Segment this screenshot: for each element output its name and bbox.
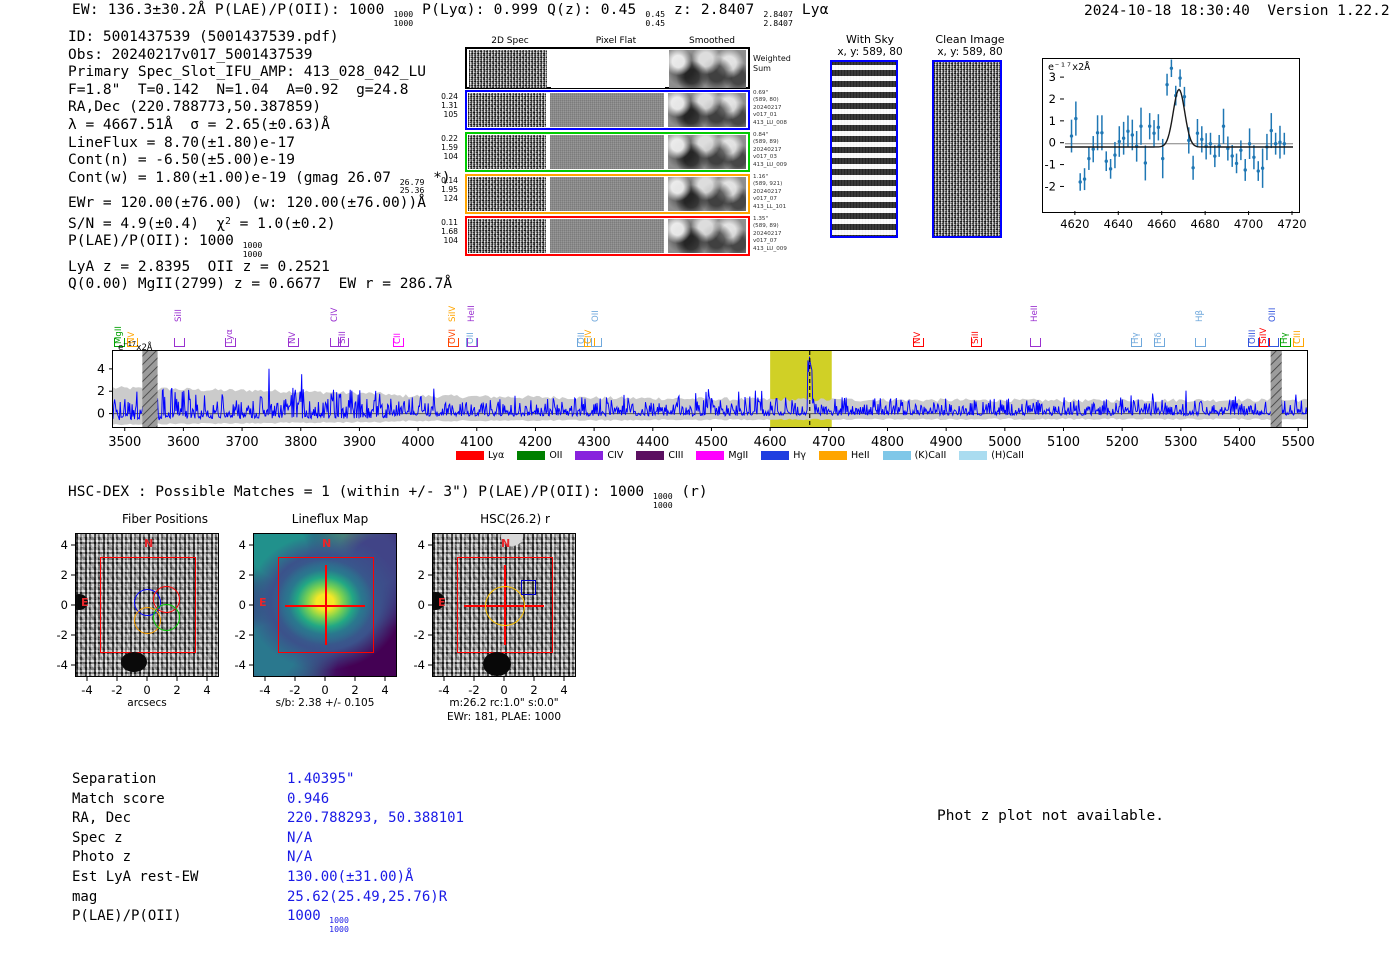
gmag-fraction: 26.7925.36 bbox=[400, 178, 425, 195]
compass-n-label: N bbox=[144, 537, 153, 550]
emission-line-label-NV: NV bbox=[288, 292, 298, 344]
legend-swatch-HCaII bbox=[959, 451, 987, 460]
svg-text:3900: 3900 bbox=[343, 435, 376, 450]
fiber-pixelflat-image bbox=[550, 219, 664, 253]
svg-text:0: 0 bbox=[143, 683, 150, 697]
match-row-value: 1000 bbox=[287, 908, 329, 924]
svg-text:4700: 4700 bbox=[1234, 217, 1263, 231]
lineflux-map-image[interactable]: N E bbox=[253, 533, 397, 677]
emission-line-bracket bbox=[1131, 338, 1142, 347]
compass-e-label: E bbox=[259, 596, 267, 609]
clean-image bbox=[932, 60, 1002, 238]
match-row-key: Separation bbox=[72, 770, 287, 790]
svg-text:2: 2 bbox=[418, 568, 425, 582]
weighted-sum-smoothed-image bbox=[669, 50, 746, 88]
legend-swatch-CIV bbox=[575, 451, 603, 460]
fiber-smoothed-image bbox=[668, 177, 746, 211]
svg-text:-4: -4 bbox=[259, 683, 270, 697]
svg-text:0: 0 bbox=[61, 598, 68, 612]
emission-line-bracket bbox=[1195, 338, 1206, 347]
svg-text:4: 4 bbox=[61, 538, 68, 552]
cutout-xlabel-sb: s/b: 2.38 +/- 0.105 bbox=[243, 697, 407, 709]
emission-line-label-SiII: SiII bbox=[338, 292, 348, 344]
spec2d-col-title-2dspec: 2D Spec bbox=[470, 36, 550, 46]
legend-label-HCaII: (H)CaII bbox=[991, 450, 1024, 461]
svg-text:2: 2 bbox=[173, 683, 180, 697]
info-radec: RA,Dec (220.788773,50.387859) bbox=[68, 99, 452, 117]
svg-text:4660: 4660 bbox=[1147, 217, 1176, 231]
match-row-key: Match score bbox=[72, 790, 287, 810]
crosshair-gap bbox=[314, 594, 338, 618]
fiber-circle-green bbox=[153, 604, 180, 631]
emission-line-bracket bbox=[174, 338, 185, 347]
compass-e-label: E bbox=[438, 596, 446, 609]
match-row-value: N/A bbox=[287, 830, 312, 846]
emission-line-bracket bbox=[971, 338, 982, 347]
emission-line-bracket bbox=[1030, 338, 1041, 347]
emission-line-label-CII: CII bbox=[393, 292, 403, 344]
blob-dark bbox=[121, 652, 147, 672]
match-row-value: N/A bbox=[287, 849, 312, 865]
table-row: Spec zN/A bbox=[72, 829, 464, 849]
table-row: mag25.62(25.49,25.76)R bbox=[72, 888, 464, 908]
svg-text:-2: -2 bbox=[57, 628, 68, 642]
svg-text:3600: 3600 bbox=[167, 435, 200, 450]
info-id: ID: 5001437539 (5001437539.pdf) bbox=[68, 29, 452, 47]
emission-line-label-SiII: SiII bbox=[971, 292, 981, 344]
svg-text:-2: -2 bbox=[235, 628, 246, 642]
svg-text:5100: 5100 bbox=[1047, 435, 1080, 450]
info-ewr: EWr = 120.00(±76.00) (w: 120.00(±76.00))… bbox=[68, 195, 452, 213]
full-spectrum-unit-label: e−17x2Å bbox=[118, 340, 152, 353]
legend-label-CIII: CIII bbox=[668, 450, 683, 461]
cutout-title-hsc-r: HSC(26.2) r bbox=[420, 512, 610, 526]
fiber-smoothed-image bbox=[668, 219, 746, 253]
table-row: P(LAE)/P(OII)1000 10001000 bbox=[72, 907, 464, 933]
emission-line-label-OVI: OVI bbox=[448, 292, 458, 344]
header-qz-fraction: 0.450.45 bbox=[645, 10, 665, 27]
spec2d-fiber-rows: 0.241.31105 0.69"(589, 80)20240217v017_0… bbox=[425, 90, 765, 256]
svg-text:3500: 3500 bbox=[108, 435, 141, 450]
fiber-2dspec-image bbox=[468, 135, 546, 169]
zoom-spectrum-plot[interactable]: e⁻¹⁷x2Å bbox=[1042, 58, 1300, 213]
zoom-spectrum-svg bbox=[1043, 59, 1299, 212]
weighted-sum-pixelflat-image bbox=[551, 50, 665, 88]
emission-line-label-CIII: CIII bbox=[1293, 292, 1303, 344]
emission-line-labels: MgIINVSiIILyαNVCIVSiIICIISiIVOVIOIIHeIIO… bbox=[0, 270, 1400, 352]
svg-text:-4: -4 bbox=[438, 683, 449, 697]
match-properties-table: Separation1.40395"Match score0.946RA, De… bbox=[72, 770, 464, 933]
svg-text:-4: -4 bbox=[81, 683, 92, 697]
match-row-value: 1.40395" bbox=[287, 771, 354, 787]
svg-text:-2: -2 bbox=[289, 683, 300, 697]
legend-swatch-Ly bbox=[456, 451, 484, 460]
spec2d-weighted-sum-row bbox=[465, 47, 750, 89]
svg-text:4620: 4620 bbox=[1060, 217, 1089, 231]
svg-text:-2: -2 bbox=[468, 683, 479, 697]
table-row[interactable] bbox=[465, 174, 750, 214]
with-sky-image bbox=[830, 60, 898, 238]
hscdex-plae-fraction: 10001000 bbox=[653, 492, 673, 509]
full-spectrum-svg bbox=[113, 351, 1307, 427]
hscdex-header: HSC-DEX : Possible Matches = 1 (within +… bbox=[68, 484, 708, 509]
match-row-value: 130.00(±31.00)Å bbox=[287, 869, 413, 885]
svg-text:0: 0 bbox=[418, 598, 425, 612]
svg-text:2: 2 bbox=[530, 683, 537, 697]
info-lineflux: LineFlux = 8.70(±1.80)e-17 bbox=[68, 135, 452, 153]
svg-text:3800: 3800 bbox=[284, 435, 317, 450]
legend-label-HeII: HeII bbox=[851, 450, 870, 461]
cutout-title-fiber-positions: Fiber Positions bbox=[70, 512, 260, 526]
legend-label-KCaII: (K)CaII bbox=[915, 450, 947, 461]
header-ew-plae-text: EW: 136.3±30.2Å P(LAE)/P(OII): 1000 bbox=[72, 2, 393, 18]
info-continuum-wide: Cont(w) = 1.80(±1.00)e-19 (gmag 26.07 26… bbox=[68, 170, 452, 195]
header-summary-line: EW: 136.3±30.2Å P(LAE)/P(OII): 1000 1000… bbox=[72, 2, 829, 27]
info-plae-fraction: 10001000 bbox=[243, 241, 263, 258]
svg-text:-2: -2 bbox=[414, 628, 425, 642]
header-z-text: z: 2.8407 bbox=[665, 2, 763, 18]
with-sky-panel-title: With Sky x, y: 589, 80 bbox=[820, 33, 920, 59]
fiber-2dspec-image bbox=[468, 219, 546, 253]
match-row-key: mag bbox=[72, 888, 287, 908]
svg-text:-2: -2 bbox=[111, 683, 122, 697]
fiber-row-left-labels: 0.111.68104 bbox=[425, 218, 458, 246]
emission-line-bracket bbox=[338, 338, 349, 347]
svg-text:3700: 3700 bbox=[226, 435, 259, 450]
compass-n-label: N bbox=[322, 537, 331, 550]
spec2d-col-title-smoothed: Smoothed bbox=[672, 36, 752, 46]
svg-text:5200: 5200 bbox=[1106, 435, 1139, 450]
match-marker-blue-square bbox=[521, 580, 536, 595]
cutout-sub2-hsc: EWr: 181, PLAE: 1000 bbox=[420, 711, 588, 723]
cutout-xlabel-hsc: m:26.2 rc:1.0" s:0.0" bbox=[420, 697, 588, 709]
fiber-row-right-labels: 1.35"(589, 89)20240217v017_07413_LU_009 bbox=[753, 216, 787, 253]
table-row[interactable] bbox=[465, 216, 750, 256]
emission-line-bracket bbox=[1248, 338, 1259, 347]
info-continuum-narrow: Cont(n) = -6.50(±5.00)e-19 bbox=[68, 152, 452, 170]
spec2d-weighted-sum-label: Weighted Sum bbox=[753, 54, 791, 73]
fiber-pixelflat-image bbox=[550, 177, 664, 211]
header-z-fraction: 2.84072.8407 bbox=[763, 10, 793, 27]
emission-line-label-NV: NV bbox=[913, 292, 923, 344]
table-row: Photo zN/A bbox=[72, 848, 464, 868]
legend-swatch-HeII bbox=[819, 451, 847, 460]
emission-line-bracket bbox=[1280, 338, 1291, 347]
fiber-2dspec-image bbox=[468, 93, 546, 127]
svg-text:4: 4 bbox=[560, 683, 567, 697]
svg-text:4: 4 bbox=[239, 538, 246, 552]
table-row: Match score0.946 bbox=[72, 790, 464, 810]
emission-line-label-Ly: Lyα bbox=[225, 292, 235, 344]
header-plya-qz-text: P(Lyα): 0.999 Q(z): 0.45 bbox=[413, 2, 645, 18]
emission-line-label-OIII: OIII bbox=[1248, 292, 1258, 344]
emission-line-bracket bbox=[393, 338, 404, 347]
emission-line-label-HeII: HeII bbox=[467, 270, 477, 322]
svg-text:0: 0 bbox=[239, 598, 246, 612]
emission-line-bracket bbox=[225, 338, 236, 347]
match-row-value: 25.62(25.49,25.76)R bbox=[287, 889, 447, 905]
header-plae-fraction: 10001000 bbox=[393, 10, 413, 27]
svg-text:4: 4 bbox=[381, 683, 388, 697]
fiber-row-right-labels: 0.69"(589, 80)20240217v017_01413_LU_008 bbox=[753, 90, 787, 127]
emission-line-label-OIII: OIII bbox=[1268, 270, 1278, 322]
fiber-row-left-labels: 0.221.59104 bbox=[425, 134, 458, 162]
fiber-row-left-labels: 0.241.31105 bbox=[425, 92, 458, 120]
svg-text:2: 2 bbox=[97, 383, 105, 398]
detection-info-block: ID: 5001437539 (5001437539.pdf) Obs: 202… bbox=[68, 29, 452, 294]
clean-image-panel-title: Clean Image x, y: 589, 80 bbox=[915, 33, 1025, 59]
fiber-positions-image[interactable]: N E bbox=[75, 533, 219, 677]
legend-swatch-KCaII bbox=[883, 451, 911, 460]
emission-line-label-H: Hδ bbox=[1154, 292, 1164, 344]
version-label: Version 1.22.2 bbox=[1267, 3, 1389, 19]
fiber-smoothed-image bbox=[668, 93, 746, 127]
svg-text:2: 2 bbox=[351, 683, 358, 697]
spectrum-legend: LyαOIICIVCIIIMgIIHγHeII(K)CaII(H)CaII bbox=[456, 445, 1037, 464]
table-row: Est LyA rest-EW130.00(±31.00)Å bbox=[72, 868, 464, 888]
svg-text:4: 4 bbox=[418, 538, 425, 552]
svg-text:4680: 4680 bbox=[1191, 217, 1220, 231]
info-obs: Obs: 20240217v017_5001437539 bbox=[68, 47, 452, 65]
svg-text:4720: 4720 bbox=[1277, 217, 1306, 231]
legend-label-OII: OII bbox=[549, 450, 562, 461]
legend-label-CIV: CIV bbox=[607, 450, 623, 461]
table-row[interactable] bbox=[465, 132, 750, 172]
emission-line-bracket bbox=[1293, 338, 1304, 347]
match-row-key: P(LAE)/P(OII) bbox=[72, 907, 287, 927]
emission-line-bracket bbox=[591, 338, 602, 347]
match-row-value: 0.946 bbox=[287, 791, 329, 807]
emission-line-label-MgII: MgII bbox=[114, 292, 124, 344]
table-row: RA, Dec220.788293, 50.388101 bbox=[72, 809, 464, 829]
emission-line-label-H: Hβ bbox=[1195, 270, 1205, 322]
weighted-sum-2dspec-image bbox=[469, 50, 547, 88]
table-row: Separation1.40395" bbox=[72, 770, 464, 790]
emission-line-bracket bbox=[1268, 338, 1279, 347]
svg-text:4: 4 bbox=[97, 361, 105, 376]
fiber-row-right-labels: 1.16"(589, 921)20240217v017_07413_LL_101 bbox=[753, 174, 786, 211]
timestamp: 2024-10-18 18:30:40 bbox=[1084, 3, 1250, 19]
aperture-circle-yellow bbox=[485, 586, 525, 626]
info-plae: P(LAE)/P(OII): 1000 10001000 bbox=[68, 233, 452, 258]
legend-swatch-H bbox=[761, 451, 789, 460]
cutout-xlabel-arcsecs: arcsecs bbox=[75, 697, 219, 709]
svg-text:0: 0 bbox=[97, 406, 105, 421]
emission-line-label-H: Hγ bbox=[1280, 292, 1290, 344]
legend-label-Ly: Lyα bbox=[488, 450, 504, 461]
fiber-row-left-labels: 0.141.95124 bbox=[425, 176, 458, 204]
legend-swatch-CIII bbox=[636, 451, 664, 460]
info-sn-chi2: S/N = 4.9(±0.4) χ2 = 1.0(±0.2) bbox=[68, 213, 452, 234]
legend-swatch-OII bbox=[517, 451, 545, 460]
full-spectrum-plot[interactable] bbox=[112, 350, 1308, 428]
svg-text:-4: -4 bbox=[414, 658, 425, 672]
legend-swatch-MgII bbox=[696, 451, 724, 460]
emission-line-label-H: Hγ bbox=[1131, 292, 1141, 344]
table-row[interactable] bbox=[465, 90, 750, 130]
emission-line-label-HeII: HeII bbox=[1030, 270, 1040, 322]
match-row-key: Est LyA rest-EW bbox=[72, 868, 287, 888]
compass-n-label: N bbox=[501, 537, 510, 550]
emission-line-label-OII: OII bbox=[591, 270, 601, 322]
svg-text:4000: 4000 bbox=[402, 435, 435, 450]
emission-line-label-SiII: SiII bbox=[174, 270, 184, 322]
photz-unavailable-message: Phot z plot not available. bbox=[937, 808, 1164, 824]
fiber-pixelflat-image bbox=[550, 93, 664, 127]
match-row-key: Photo z bbox=[72, 848, 287, 868]
emission-line-bracket bbox=[288, 338, 299, 347]
blob-dark-bottom bbox=[483, 652, 511, 676]
fiber-pixelflat-image bbox=[550, 135, 664, 169]
info-seeing: F=1.8" T=0.142 N=1.04 A=0.92 g=24.8 bbox=[68, 82, 452, 100]
svg-text:5300: 5300 bbox=[1164, 435, 1197, 450]
emission-line-bracket bbox=[913, 338, 924, 347]
svg-text:0: 0 bbox=[321, 683, 328, 697]
hsc-r-image[interactable]: N E bbox=[432, 533, 576, 677]
fiber-smoothed-image bbox=[668, 135, 746, 169]
info-lambda-sigma: λ = 4667.51Å σ = 2.65(±0.63)Å bbox=[68, 117, 452, 135]
match-row-value: 220.788293, 50.388101 bbox=[287, 810, 464, 826]
fiber-row-right-labels: 0.84"(589, 89)20240217v017_03413_LU_009 bbox=[753, 132, 787, 169]
legend-label-H: Hγ bbox=[793, 450, 806, 461]
svg-text:5500: 5500 bbox=[1282, 435, 1315, 450]
legend-label-MgII: MgII bbox=[728, 450, 748, 461]
emission-line-bracket bbox=[467, 338, 478, 347]
info-primary-spec: Primary Spec_Slot_IFU_AMP: 413_028_042_L… bbox=[68, 64, 452, 82]
fiber-2dspec-image bbox=[468, 177, 546, 211]
svg-text:-4: -4 bbox=[235, 658, 246, 672]
emission-line-bracket bbox=[448, 338, 459, 347]
header-line-species: Lyα bbox=[793, 2, 829, 18]
svg-text:4: 4 bbox=[203, 683, 210, 697]
match-row-key: Spec z bbox=[72, 829, 287, 849]
match-row-fraction: 10001000 bbox=[329, 916, 349, 933]
match-row-key: RA, Dec bbox=[72, 809, 287, 829]
emission-line-bracket bbox=[1154, 338, 1165, 347]
version-stamp: 2024-10-18 18:30:40 Version 1.22.2 bbox=[1084, 3, 1390, 19]
spec2d-col-title-pixelflat: Pixel Flat bbox=[576, 36, 656, 46]
svg-text:4640: 4640 bbox=[1104, 217, 1133, 231]
cutout-title-lineflux-map: Lineflux Map bbox=[240, 512, 420, 526]
svg-text:0: 0 bbox=[500, 683, 507, 697]
svg-text:2: 2 bbox=[239, 568, 246, 582]
svg-text:2: 2 bbox=[61, 568, 68, 582]
compass-e-label: E bbox=[81, 596, 89, 609]
svg-text:5400: 5400 bbox=[1223, 435, 1256, 450]
emission-line-label-NV: NV bbox=[127, 292, 137, 344]
svg-text:-4: -4 bbox=[57, 658, 68, 672]
